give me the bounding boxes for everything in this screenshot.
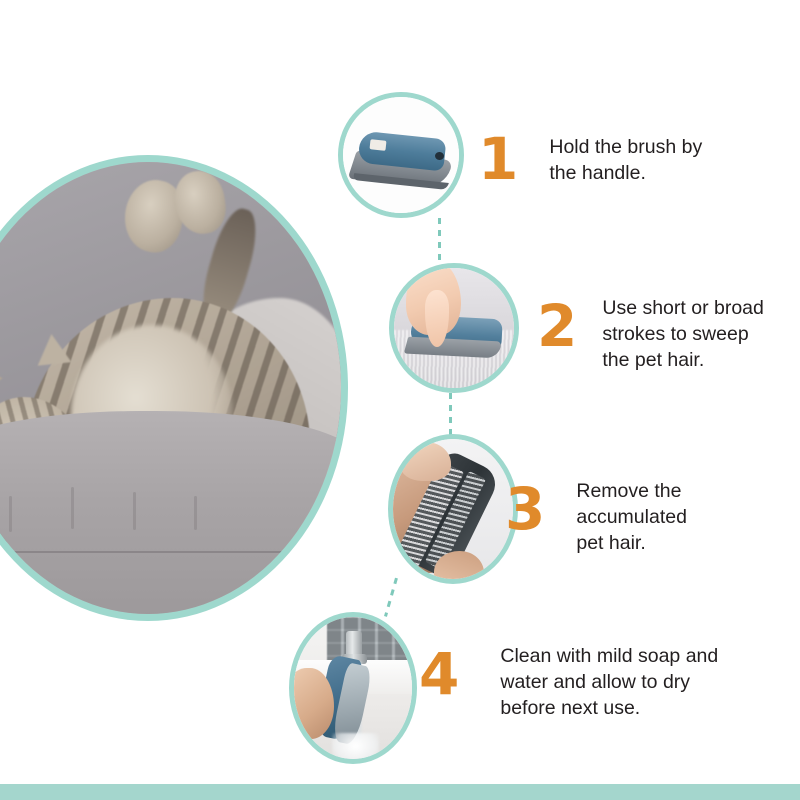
dashed-connector-1-2 bbox=[438, 218, 441, 265]
soap-foam bbox=[332, 733, 379, 764]
step-3-number: 3 bbox=[505, 480, 544, 538]
footer-accent-bar bbox=[0, 784, 800, 800]
sweeping-illustration bbox=[394, 268, 514, 388]
dashed-connector-3-4 bbox=[384, 578, 398, 617]
step-2-number: 2 bbox=[537, 297, 576, 355]
step-4-number: 4 bbox=[419, 645, 458, 703]
dashed-connector-2-3 bbox=[449, 393, 452, 436]
rinsing-illustration bbox=[294, 617, 412, 759]
hair-removal-illustration bbox=[393, 439, 513, 579]
step-1-number: 1 bbox=[478, 130, 517, 188]
step-4-row: 4 Clean with mild soap and water and all… bbox=[419, 645, 718, 722]
sofa-seat bbox=[0, 411, 348, 621]
hero-cat-photo bbox=[0, 155, 348, 621]
cushion-fold bbox=[9, 496, 12, 532]
step-3-row: 3 Remove the accumulated pet hair. bbox=[505, 480, 687, 557]
cushion-fold bbox=[133, 492, 136, 530]
step-4-photo bbox=[289, 612, 417, 764]
cushion-fold bbox=[194, 496, 197, 530]
cat-ear-right bbox=[35, 332, 72, 365]
brush-hang-hole bbox=[435, 151, 445, 160]
step-2-text: Use short or broad strokes to sweep the … bbox=[602, 296, 764, 374]
step-2-row: 2 Use short or broad strokes to sweep th… bbox=[537, 297, 764, 374]
step-3-photo bbox=[388, 434, 518, 584]
step-1-row: 1 Hold the brush by the handle. bbox=[478, 130, 702, 188]
cushion-fold bbox=[71, 487, 74, 529]
brush-product-illustration bbox=[343, 97, 459, 213]
sofa-seam bbox=[0, 551, 326, 553]
step-3-text: Remove the accumulated pet hair. bbox=[576, 479, 687, 557]
thumb bbox=[400, 442, 450, 481]
cat-illustration bbox=[0, 162, 341, 614]
brush-logo-icon bbox=[369, 139, 386, 151]
step-4-text: Clean with mild soap and water and allow… bbox=[500, 644, 718, 722]
step-1-photo bbox=[338, 92, 464, 218]
step-1-text: Hold the brush by the handle. bbox=[549, 135, 702, 187]
step-2-photo bbox=[389, 263, 519, 393]
